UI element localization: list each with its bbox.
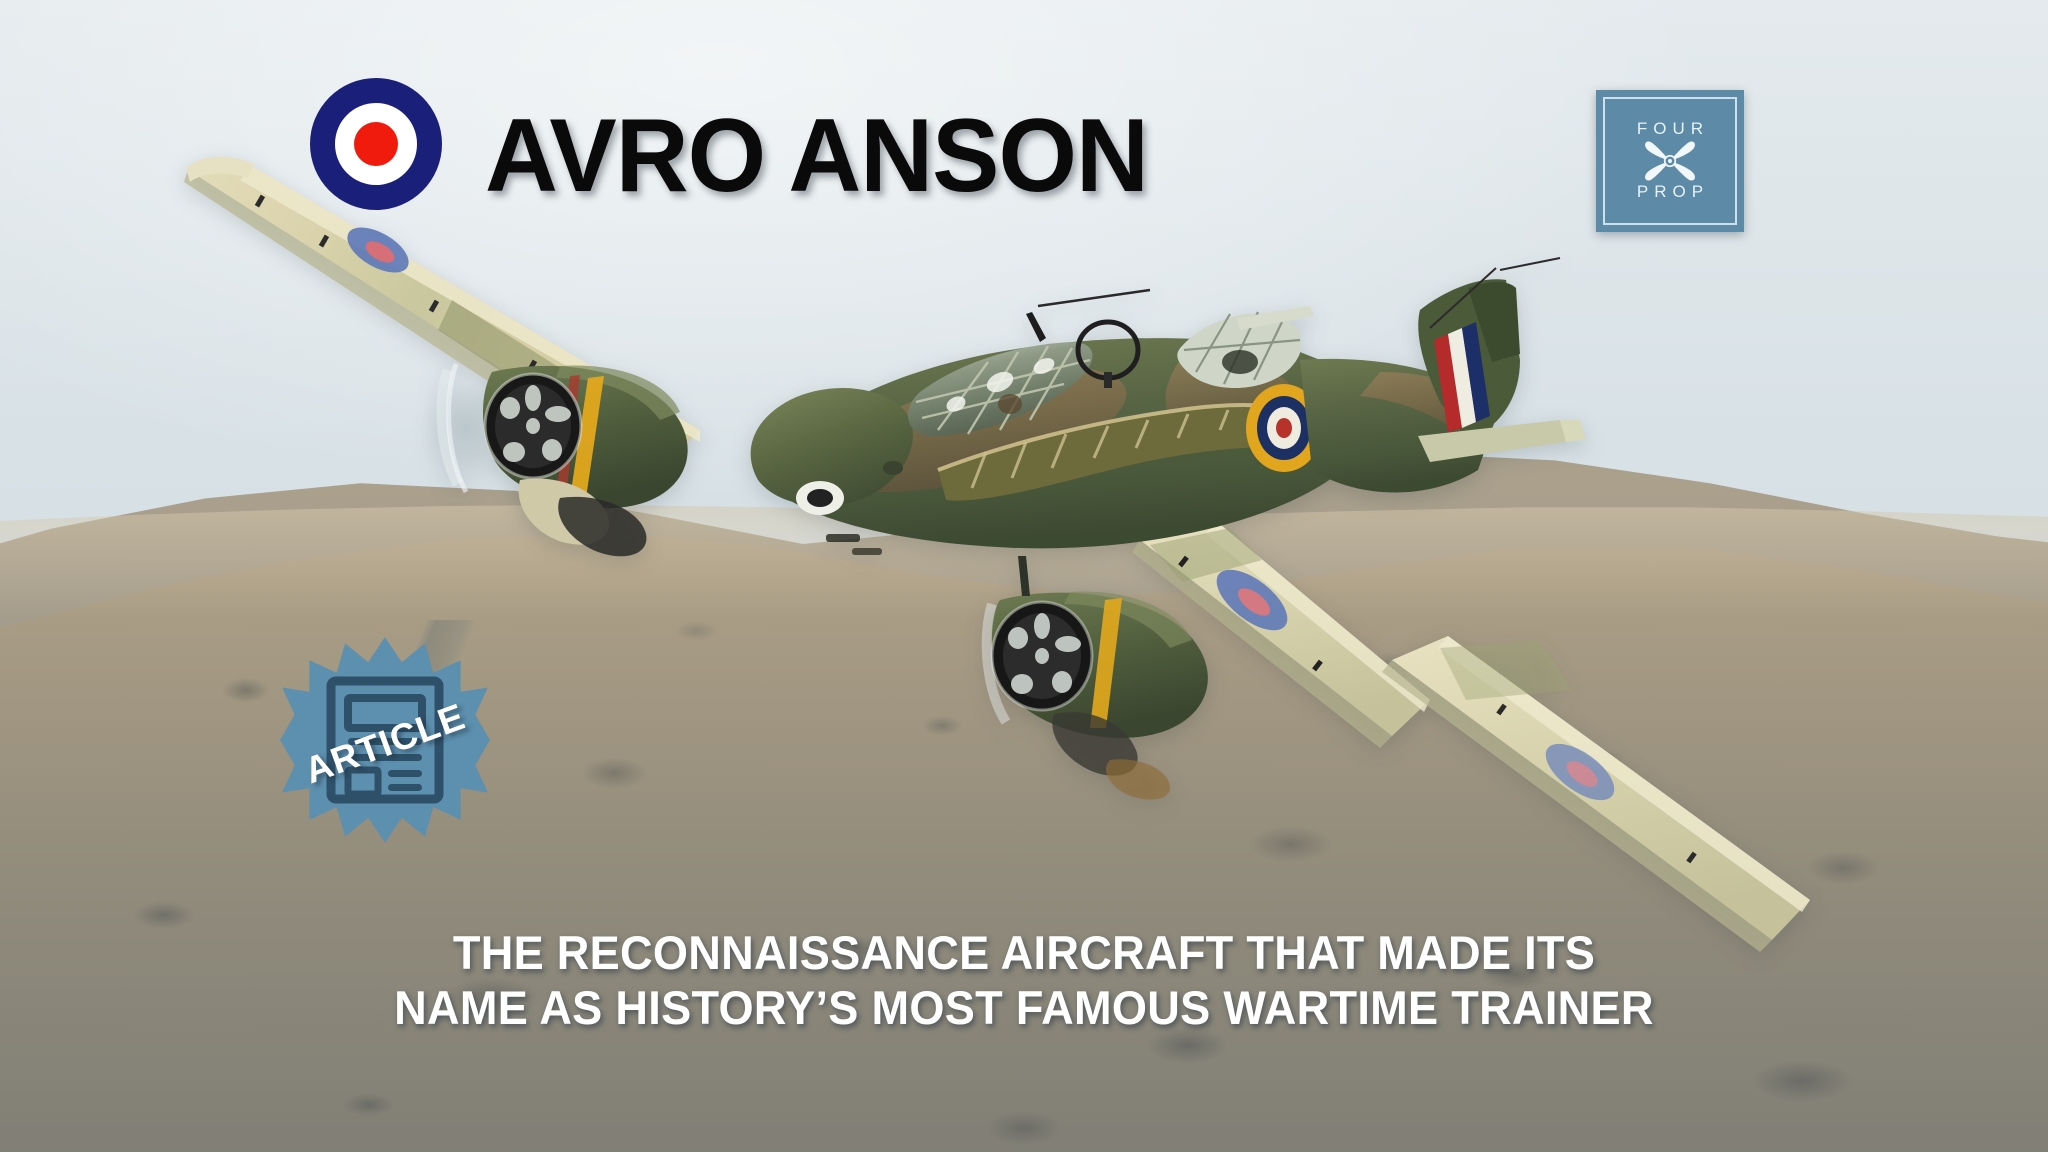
- subtitle-line-2: NAME AS HISTORY’S MOST FAMOUS WARTIME TR…: [41, 981, 2007, 1036]
- page-title: AVRO ANSON: [485, 104, 1148, 208]
- banner-canvas: VX N5: [0, 0, 2048, 1152]
- four-prop-logo[interactable]: FOUR PROP: [1596, 90, 1744, 232]
- logo-word-bottom: PROP: [1596, 182, 1744, 202]
- raf-roundel-icon: [310, 78, 442, 210]
- roundel-white-ring: [335, 103, 417, 185]
- subtitle-line-1: THE RECONNAISSANCE AIRCRAFT THAT MADE IT…: [41, 926, 2007, 981]
- subtitle: THE RECONNAISSANCE AIRCRAFT THAT MADE IT…: [41, 926, 2007, 1036]
- roundel-red-center: [354, 122, 398, 166]
- article-badge[interactable]: ARTICLE: [280, 635, 490, 845]
